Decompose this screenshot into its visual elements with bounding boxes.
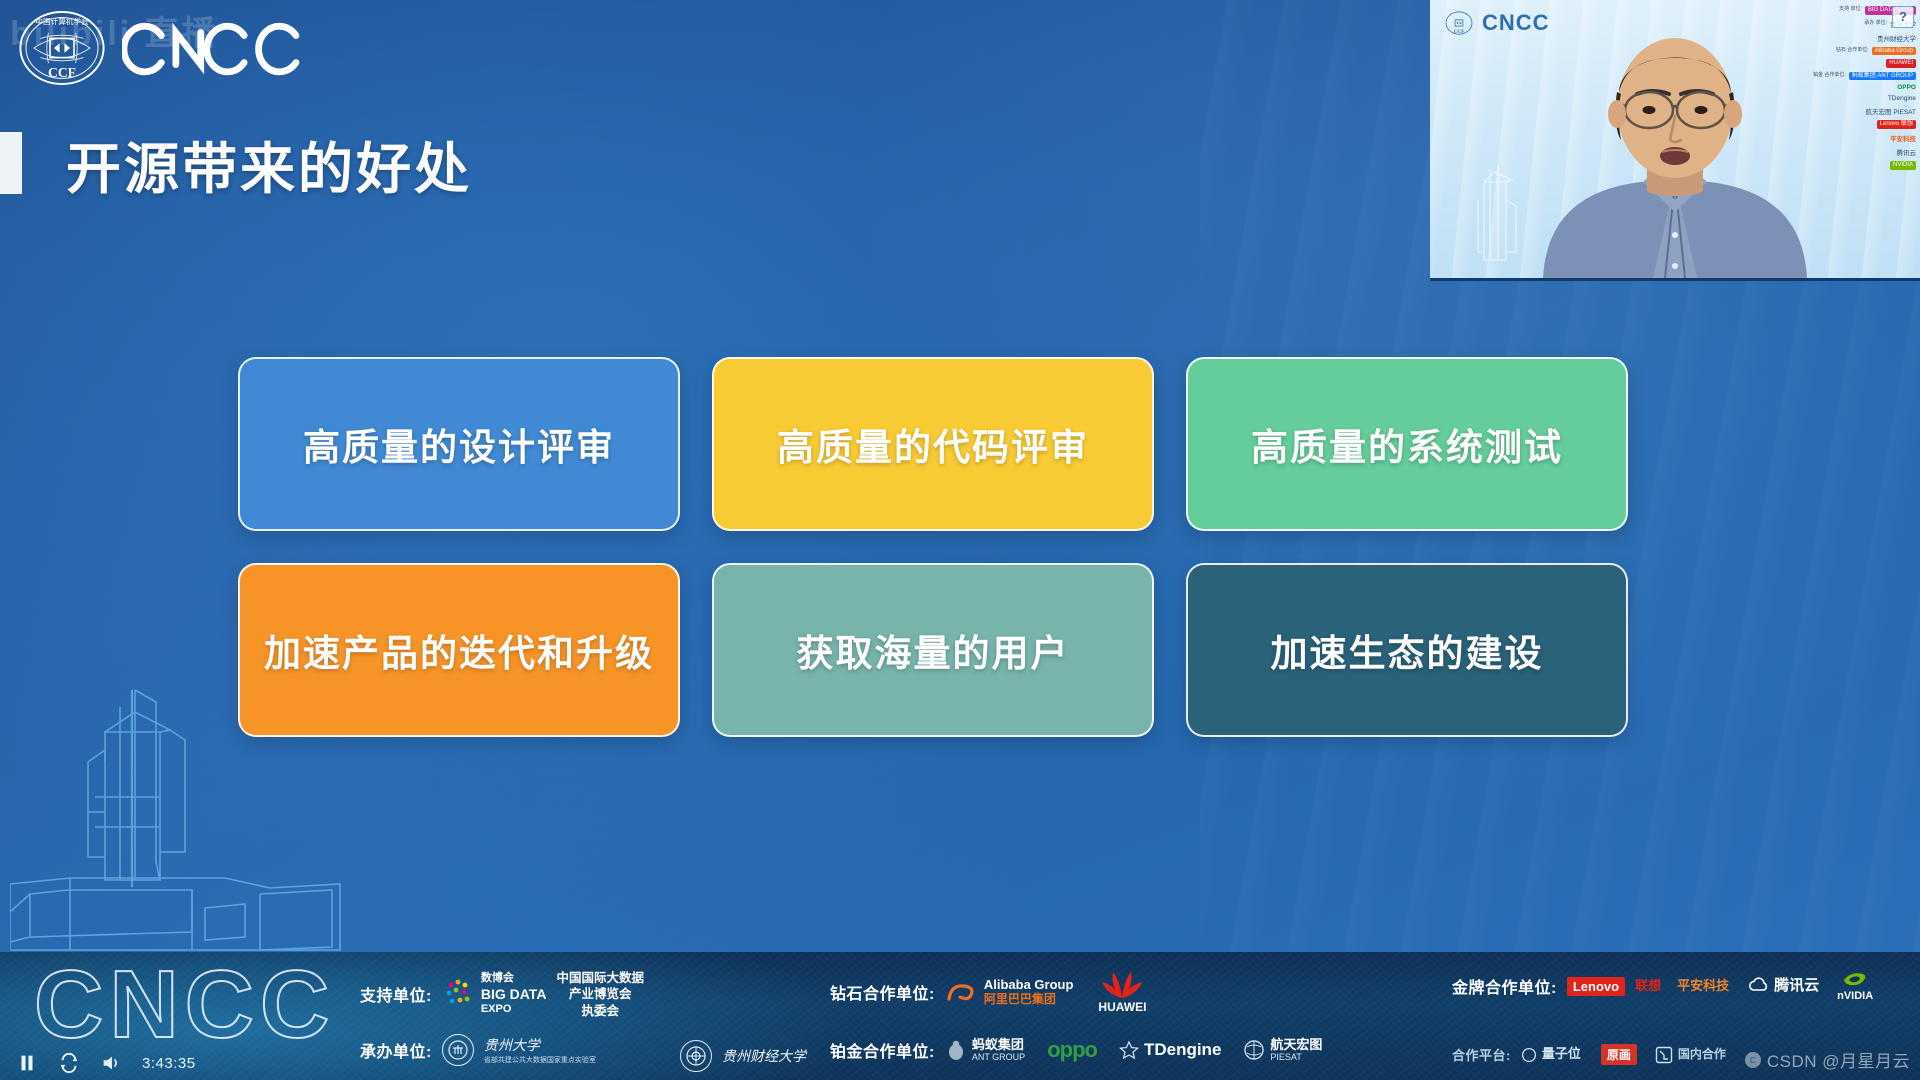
card-system-testing[interactable]: 高质量的系统测试 xyxy=(1186,357,1628,531)
webcam-logo-pingan: 平安科技 xyxy=(1890,133,1916,143)
card-code-review[interactable]: 高质量的代码评审 xyxy=(712,357,1154,531)
logo-huawei: HUAWEI xyxy=(1097,970,1147,1014)
card-row-top: 高质量的设计评审 高质量的代码评审 高质量的系统测试 xyxy=(238,357,1628,531)
partner-square-icon xyxy=(1655,1046,1673,1064)
webcam-sponsor-row: 平安科技 xyxy=(1796,133,1916,143)
bigdata-expo-icon xyxy=(442,977,476,1011)
card-row-bottom: 加速产品的迭代和升级 获取海量的用户 加速生态的建设 xyxy=(238,563,1628,737)
webcam-logo-alibaba: Alibaba Group xyxy=(1872,47,1916,56)
webcam-sponsor-row: 铂金 合作单位: 蚂蚁集团 ANT GROUP xyxy=(1796,72,1916,81)
ccf-emblem-icon: CCF 中国计算机学会 xyxy=(18,8,106,88)
webcam-sponsor-row: 航天宏图 PIESAT xyxy=(1796,106,1916,116)
logo-line-1: 航天宏图 xyxy=(1270,1038,1322,1052)
logo-line-1: Alibaba Group xyxy=(984,978,1074,992)
logo-line-1: 贵州财经大学 xyxy=(722,1046,806,1066)
cncc-wordmark-icon xyxy=(122,19,329,77)
logo-line-1: 贵州大学 xyxy=(484,1035,596,1055)
logo-line-1: 数博会 xyxy=(481,972,547,986)
ant-group-icon xyxy=(945,1039,967,1061)
sponsor-group-gold: 金牌合作单位: Lenovo 联想 平安科技 腾讯云 nVIDIA xyxy=(1452,970,1873,1002)
loop-icon[interactable] xyxy=(58,1052,80,1074)
logo-big-data-expo: 数博会 BIG DATA EXPO xyxy=(442,972,547,1017)
sponsor-group-platinum: 铂金合作单位: 蚂蚁集团 ANT GROUP oppo TDengine xyxy=(830,1038,1322,1062)
svg-text:C: C xyxy=(1750,1056,1756,1065)
logo-line-2: PIESAT xyxy=(1270,1052,1322,1062)
webcam-sponsor-row: 钻石 合作单位: Alibaba Group xyxy=(1796,47,1916,56)
csdn-watermark: C CSDN @月星月云 xyxy=(1744,1047,1910,1072)
card-label: 获取海量的用户 xyxy=(797,623,1070,677)
logo-line-2: 阿里巴巴集团 xyxy=(984,993,1074,1006)
tdengine-star-icon xyxy=(1119,1040,1139,1060)
logo-lenovo: Lenovo xyxy=(1567,977,1625,996)
logo-line-3: EXPO xyxy=(481,1003,547,1017)
webcam-sponsor-caption: 承办 单位: xyxy=(1864,21,1887,27)
guizhou-university-seal-icon xyxy=(442,1034,474,1066)
logo-line-1: 量子位 xyxy=(1542,1047,1581,1061)
webcam-sponsor-row: OPPO xyxy=(1796,84,1916,91)
webcam-logo-nvidia: NVIDIA xyxy=(1890,161,1916,170)
logo-qbitai: 量子位 xyxy=(1521,1047,1581,1063)
card-label: 高质量的代码评审 xyxy=(777,417,1089,471)
alibaba-icon xyxy=(945,979,979,1005)
webcam-sponsor-row: NVIDIA xyxy=(1796,161,1916,170)
webcam-logo-tdengine: TDengine xyxy=(1888,95,1916,102)
svg-text:CCF: CCF xyxy=(48,65,76,80)
svg-text:中国计算机学会: 中国计算机学会 xyxy=(35,16,89,26)
csdn-watermark-text: CSDN @月星月云 xyxy=(1767,1047,1910,1072)
slide-header: CCF 中国计算机学会 xyxy=(18,8,329,88)
webcam-sponsor-caption: 钻石 合作单位: xyxy=(1836,48,1869,54)
webcam-sponsor-row: 腾讯云 xyxy=(1796,147,1916,157)
csdn-logo-icon: C xyxy=(1744,1051,1762,1069)
logo-tdengine: TDengine xyxy=(1119,1040,1221,1060)
logo-line-2: ANT GROUP xyxy=(972,1052,1025,1062)
logo-nvidia: nVIDIA xyxy=(1837,970,1873,1002)
ccf-emblem-icon: CCF xyxy=(1444,10,1474,36)
webcam-tower-illustration xyxy=(1460,160,1530,270)
logo-line-1: nVIDIA xyxy=(1837,990,1873,1002)
logo-piesat: 航天宏图 PIESAT xyxy=(1243,1038,1322,1062)
webcam-logo-lenovo: Lenovo 联想 xyxy=(1877,120,1916,129)
webcam-sponsor-column: 支持 单位: BIG DATA EXPO 承办 单位: 贵州大学 贵州财经大学 … xyxy=(1796,6,1916,170)
logo-line-1: 蚂蚁集团 xyxy=(972,1038,1025,1052)
sponsor-footer-bar: CNCC 3:43:35 支持单位: xyxy=(0,952,1920,1080)
webcam-sponsor-row: 贵州财经大学 xyxy=(1796,33,1916,43)
qbitai-icon xyxy=(1521,1047,1537,1063)
card-label: 加速生态的建设 xyxy=(1271,623,1544,677)
sponsor-group-caption: 金牌合作单位: xyxy=(1452,974,1557,998)
webcam-sponsor-caption: 支持 单位: xyxy=(1839,7,1862,13)
player-controls: 3:43:35 xyxy=(16,1052,196,1074)
help-button[interactable]: ? xyxy=(1892,6,1914,28)
svg-text:CCF: CCF xyxy=(1454,29,1465,35)
logo-guizhou-university: 贵州大学 省部共建公共大数据国家重点实验室 xyxy=(484,1035,596,1065)
speaker-webcam-overlay[interactable]: CCF CNCC xyxy=(1430,0,1920,281)
sponsor-group-platform: 合作平台: 量子位 原画 国内合作 xyxy=(1452,1044,1726,1065)
logo-line-1: 国内合作 xyxy=(1678,1048,1726,1061)
logo-line-2: 省部共建公共大数据国家重点实验室 xyxy=(484,1055,596,1065)
card-label: 加速产品的迭代和升级 xyxy=(264,623,654,677)
sponsor-group-diamond: 钻石合作单位: Alibaba Group 阿里巴巴集团 HUAWEI xyxy=(830,970,1147,1014)
nvidia-eye-icon xyxy=(1841,970,1869,990)
seal-glyph-icon xyxy=(685,1045,707,1067)
sponsor-group-caption: 支持单位: xyxy=(360,982,432,1006)
webcam-logo-piesat: 航天宏图 PIESAT xyxy=(1866,106,1916,116)
webcam-sponsor-caption: 铂金 合作单位: xyxy=(1813,73,1846,79)
benefit-card-grid: 高质量的设计评审 高质量的代码评审 高质量的系统测试 加速产品的迭代和升级 获取… xyxy=(238,357,1628,737)
footer-cncc-wordmark: CNCC xyxy=(34,952,335,1060)
logo-partner-extra: 国内合作 xyxy=(1655,1046,1726,1064)
guizhou-finance-seal-icon xyxy=(680,1040,712,1072)
logo-ant-group: 蚂蚁集团 ANT GROUP xyxy=(945,1038,1025,1062)
elapsed-time: 3:43:35 xyxy=(142,1055,196,1072)
logo-guizhou-finance-university: 贵州财经大学 xyxy=(680,1040,806,1072)
logo-pingan: 平安科技 xyxy=(1677,979,1729,993)
seal-glyph-icon xyxy=(447,1039,469,1061)
card-design-review[interactable]: 高质量的设计评审 xyxy=(238,357,680,531)
card-product-iteration[interactable]: 加速产品的迭代和升级 xyxy=(238,563,680,737)
logo-line-1: 腾讯云 xyxy=(1774,978,1819,995)
sponsor-group-caption: 铂金合作单位: xyxy=(830,1038,935,1062)
card-ecosystem-building[interactable]: 加速生态的建设 xyxy=(1186,563,1628,737)
speaker-portrait xyxy=(1525,30,1825,278)
sponsor-group-organizer: 承办单位: 贵州大学 省部共建公共大数据国家重点实验室 xyxy=(360,1034,596,1066)
logo-line-2: BIG DATA xyxy=(481,986,547,1004)
logo-tencent-cloud: 腾讯云 xyxy=(1747,977,1819,995)
piesat-globe-icon xyxy=(1243,1039,1265,1061)
page-title: 开源带来的好处 xyxy=(66,124,472,204)
sponsor-group-supporter: 支持单位: 数博会 BIG DATA EXPO xyxy=(360,970,644,1019)
huawei-flower-icon xyxy=(1097,970,1147,1000)
sponsor-group-caption: 承办单位: xyxy=(360,1038,432,1062)
logo-china-big-data-committee: 中国国际大数据 产业博览会 执委会 xyxy=(556,970,644,1019)
card-label: 高质量的系统测试 xyxy=(1251,417,1563,471)
logo-line-1: HUAWEI xyxy=(1098,1001,1146,1014)
logo-line-1: TDengine xyxy=(1144,1041,1221,1060)
livestream-player: bilibili 直播 CCF 中国计算机学会 xyxy=(0,0,1920,1080)
logo-line-2: 产业博览会 xyxy=(556,986,644,1002)
logo-oppo: oppo xyxy=(1047,1038,1097,1062)
webcam-logo-oppo: OPPO xyxy=(1897,84,1916,91)
tencent-cloud-icon xyxy=(1747,977,1769,995)
card-label: 高质量的设计评审 xyxy=(303,417,615,471)
webcam-logo-guizhou-finance: 贵州财经大学 xyxy=(1877,33,1916,43)
pause-icon[interactable] xyxy=(16,1052,38,1074)
volume-icon[interactable] xyxy=(100,1052,122,1074)
webcam-logo-tencent-cloud: 腾讯云 xyxy=(1897,147,1917,157)
sponsor-group-caption: 钻石合作单位: xyxy=(830,980,935,1004)
logo-line-3: 执委会 xyxy=(556,1003,644,1019)
title-accent-bar xyxy=(0,132,22,194)
logo-yuanhua: 原画 xyxy=(1601,1044,1637,1065)
webcam-sponsor-row: Lenovo 联想 xyxy=(1796,120,1916,129)
logo-lenovo-cn: 联想 xyxy=(1635,979,1661,993)
sponsor-group-caption: 合作平台: xyxy=(1452,1045,1511,1064)
webcam-sponsor-row: HUAWEI xyxy=(1796,59,1916,68)
card-massive-users[interactable]: 获取海量的用户 xyxy=(712,563,1154,737)
webcam-sponsor-row: TDengine xyxy=(1796,95,1916,102)
webcam-logo-antgroup: 蚂蚁集团 ANT GROUP xyxy=(1849,72,1916,81)
webcam-logo-huawei: HUAWEI xyxy=(1886,59,1916,68)
logo-line-1: 中国国际大数据 xyxy=(556,970,644,986)
logo-alibaba: Alibaba Group 阿里巴巴集团 xyxy=(945,978,1074,1005)
